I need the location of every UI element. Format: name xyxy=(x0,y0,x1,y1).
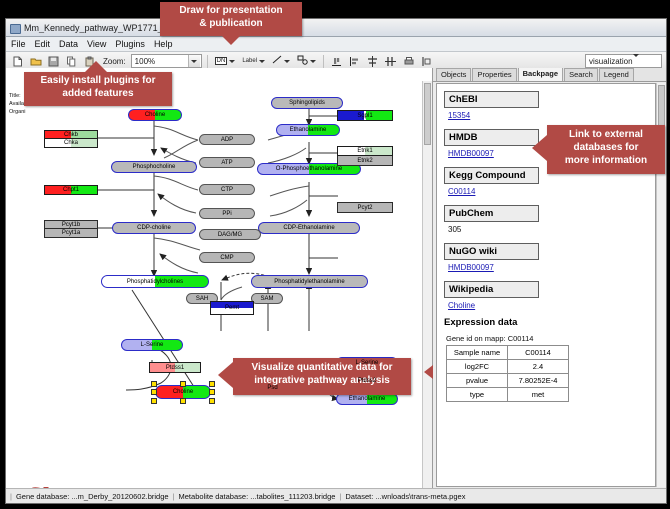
node-label: DAG/MG xyxy=(218,232,242,238)
datanode-tool[interactable]: DN xyxy=(213,55,238,68)
node-sphingolipids[interactable]: Sphingolipids xyxy=(271,97,343,109)
section-heading-kegg-compound: Kegg Compound xyxy=(444,167,539,184)
callout-draw-arrow xyxy=(220,34,242,45)
table-row: log2FC 2.4 xyxy=(447,360,569,374)
pathway-canvas[interactable]: Title: Availa Organi xyxy=(6,68,433,489)
node-label: Chkb xyxy=(64,132,78,138)
node-choline-selected[interactable]: Choline xyxy=(155,385,211,399)
callout-links-arrow-lower xyxy=(424,365,433,379)
node-label: Phosphocholine xyxy=(133,164,176,170)
node-ppi[interactable]: PPi xyxy=(199,208,255,219)
node-label: L-Serine xyxy=(356,360,379,366)
selection-handle[interactable] xyxy=(180,381,186,387)
node-label: Ptdss1 xyxy=(166,365,184,371)
distribute-horizontal-icon[interactable] xyxy=(383,54,398,69)
callout-plugins-line2: added features xyxy=(24,87,172,100)
tab-objects[interactable]: Objects xyxy=(436,68,471,81)
section-heading-wikipedia: Wikipedia xyxy=(444,281,539,298)
shape-tool[interactable] xyxy=(295,55,318,68)
link-kegg-compound[interactable]: C00114 xyxy=(448,187,655,196)
node-phosphatidylcholines[interactable]: Phosphatidylcholines xyxy=(101,275,209,288)
gene-etnk1[interactable]: Etnk1 xyxy=(337,146,393,156)
table-row: type met xyxy=(447,388,569,402)
callout-visualize-line1: Visualize quantitative data for xyxy=(233,361,411,374)
align-top-icon[interactable] xyxy=(329,54,344,69)
expression-data-heading: Expression data xyxy=(444,317,655,328)
selection-handle[interactable] xyxy=(180,398,186,404)
cell-key: log2FC xyxy=(447,360,508,374)
node-label: Chpt1 xyxy=(63,187,79,193)
node-label: Ethanolamine xyxy=(349,396,386,402)
node-label: SAH xyxy=(196,296,208,302)
tab-properties[interactable]: Properties xyxy=(472,68,516,81)
menu-item-file[interactable]: File xyxy=(11,39,26,49)
save-icon[interactable] xyxy=(46,54,61,69)
node-label: Phosphatidylcholines xyxy=(127,279,183,285)
node-label: Choline xyxy=(145,112,165,118)
cell-key: pvalue xyxy=(447,374,508,388)
selection-handle[interactable] xyxy=(151,389,157,395)
node-ctp[interactable]: CTP xyxy=(199,184,255,195)
selection-handle[interactable] xyxy=(151,381,157,387)
node-atp[interactable]: ATP xyxy=(199,157,255,168)
node-label: CTP xyxy=(221,187,233,193)
node-label: Etnk2 xyxy=(357,158,372,164)
callout-visualize: Visualize quantitative data for integrat… xyxy=(233,358,411,395)
node-label: SAM xyxy=(260,296,273,302)
gene-etnk2[interactable]: Etnk2 xyxy=(337,156,393,166)
node-label: CDP-Ethanolamine xyxy=(283,225,334,231)
gene-chka[interactable]: Chka xyxy=(44,139,98,148)
node-label: Sphingolipids xyxy=(289,100,325,106)
new-file-icon[interactable] xyxy=(10,54,25,69)
cell-value: C00114 xyxy=(508,346,569,360)
visualization-combobox[interactable]: visualization xyxy=(585,54,662,68)
menu-item-data[interactable]: Data xyxy=(59,39,78,49)
gene-ptdss1[interactable]: Ptdss1 xyxy=(149,362,201,373)
group-icon[interactable] xyxy=(419,54,434,69)
status-separator: | xyxy=(10,492,12,501)
menu-item-edit[interactable]: Edit xyxy=(35,39,51,49)
cell-key: Sample name xyxy=(447,346,508,360)
selection-handle[interactable] xyxy=(209,381,215,387)
node-label: PPi xyxy=(222,211,231,217)
shape-icon xyxy=(297,55,308,67)
node-label: Ptdss2 xyxy=(358,378,376,384)
status-separator: | xyxy=(173,492,175,501)
menu-item-plugins[interactable]: Plugins xyxy=(115,39,145,49)
callout-visualize-arrow xyxy=(218,362,233,388)
node-label: Phosphatidylethanolamine xyxy=(274,279,344,285)
node-label: L-Serine xyxy=(141,342,164,348)
table-row: Sample name C00114 xyxy=(447,346,569,360)
datanode-icon: DN xyxy=(215,57,228,65)
status-metabolite-database: Metabolite database: ...tabolites_111203… xyxy=(179,492,336,501)
gene-chkb[interactable]: Chkb xyxy=(44,130,98,139)
cell-value: met xyxy=(508,388,569,402)
node-label: Choline xyxy=(173,389,193,395)
callout-draw-line1: Draw for presentation xyxy=(160,4,302,17)
status-dataset: Dataset: ...wnloads\trans-meta.pgex xyxy=(345,492,465,501)
section-heading-pubchem: PubChem xyxy=(444,205,539,222)
app-icon xyxy=(10,23,20,33)
selection-handle[interactable] xyxy=(151,398,157,404)
pathway-diagram: Title: Availa Organi xyxy=(6,68,432,489)
section-heading-hmdb: HMDB xyxy=(444,129,539,146)
table-row: pvalue 7.80252E-4 xyxy=(447,374,569,388)
link-nugo-wiki[interactable]: HMDB00097 xyxy=(448,263,655,272)
callout-draw: Draw for presentation & publication xyxy=(160,2,302,36)
node-dagmg[interactable]: DAG/MG xyxy=(199,229,261,240)
callout-plugins-arrow xyxy=(85,61,107,72)
node-ethanolamine[interactable]: Ethanolamine xyxy=(276,124,340,136)
align-left-icon[interactable] xyxy=(347,54,362,69)
side-panel-tabs: Objects Properties Backpage Search Legen… xyxy=(433,68,666,82)
line-icon xyxy=(272,55,282,67)
status-bar: | Gene database: ...m_Derby_20120602.bri… xyxy=(6,488,666,503)
node-phosphocholine[interactable]: Phosphocholine xyxy=(111,161,197,173)
node-label: Pemt xyxy=(225,305,239,311)
toolbar-separator xyxy=(323,55,324,68)
toolbar-separator xyxy=(207,55,208,68)
callout-plugins-line1: Easily install plugins for xyxy=(24,74,172,87)
node-label: Psd xyxy=(267,385,277,391)
selection-handle[interactable] xyxy=(209,398,215,404)
node-label: ATP xyxy=(221,160,232,166)
print-icon[interactable] xyxy=(401,54,416,69)
callout-links: Link to external databases for more info… xyxy=(547,125,665,174)
callout-links-line1: Link to external xyxy=(547,128,665,141)
tab-search[interactable]: Search xyxy=(564,68,598,81)
section-heading-nugo-wiki: NuGO wiki xyxy=(444,243,539,260)
tab-backpage[interactable]: Backpage xyxy=(518,68,563,81)
title-bar: Mm_Kennedy_pathway_WP1771_45176.gpml xyxy=(6,19,666,37)
callout-draw-line2: & publication xyxy=(160,17,302,30)
node-label: CMP xyxy=(220,255,233,261)
zoom-value: 100% xyxy=(135,57,155,66)
gene-id-line: Gene id on mapp: C00114 xyxy=(446,334,655,343)
node-cmp[interactable]: CMP xyxy=(199,252,255,263)
node-phosphatidylethanolamine[interactable]: Phosphatidylethanolamine xyxy=(251,275,368,288)
link-chebi[interactable]: 15354 xyxy=(448,111,655,120)
canvas-vertical-scrollbar[interactable] xyxy=(422,81,432,489)
open-folder-icon[interactable] xyxy=(28,54,43,69)
status-gene-database: Gene database: ...m_Derby_20120602.bridg… xyxy=(16,492,169,501)
gene-chpt1[interactable]: Chpt1 xyxy=(44,185,98,195)
callout-visualize-line2: integrative pathway analysis xyxy=(233,374,411,387)
node-label: Pcyt1a xyxy=(62,230,80,236)
distribute-vertical-icon[interactable] xyxy=(365,54,380,69)
menu-bar: File Edit Data View Plugins Help xyxy=(6,37,666,52)
gene-pcyt1b[interactable]: Pcyt1b xyxy=(44,220,98,229)
status-separator: | xyxy=(339,492,341,501)
line-tool[interactable] xyxy=(270,55,292,68)
node-label: Ethanolamine xyxy=(290,127,327,133)
gene-pemt[interactable]: Pemt xyxy=(210,301,254,315)
node-label: Pcyt1b xyxy=(62,222,80,228)
node-label: ADP xyxy=(221,137,233,143)
tab-legend[interactable]: Legend xyxy=(599,68,634,81)
node-label: Chka xyxy=(64,140,78,146)
link-wikipedia[interactable]: Choline xyxy=(448,301,655,310)
value-pubchem: 305 xyxy=(448,225,655,234)
node-label: Sgpl1 xyxy=(357,113,372,119)
chevron-down-icon[interactable] xyxy=(188,55,200,67)
gene-pcyt1a[interactable]: Pcyt1a xyxy=(44,229,98,238)
node-sam[interactable]: SAM xyxy=(251,293,283,304)
label-tool[interactable]: Label xyxy=(240,55,267,68)
node-cdp-ethanolamine[interactable]: CDP-Ethanolamine xyxy=(258,222,360,234)
node-choline-top[interactable]: Choline xyxy=(128,109,182,121)
scrollbar-thumb[interactable] xyxy=(658,85,665,129)
chevron-down-icon[interactable] xyxy=(633,57,639,66)
scrollbar-thumb[interactable] xyxy=(424,83,431,145)
gene-sgpl1[interactable]: Sgpl1 xyxy=(337,110,393,121)
node-label: O-Phosphoethanolamine xyxy=(276,166,342,172)
copy-icon[interactable] xyxy=(64,54,79,69)
node-l-serine-left[interactable]: L-Serine xyxy=(121,339,183,351)
menu-item-view[interactable]: View xyxy=(87,39,106,49)
gene-pcyt2[interactable]: Pcyt2 xyxy=(337,202,393,213)
menu-item-help[interactable]: Help xyxy=(154,39,173,49)
node-label: Pcyt2 xyxy=(357,205,372,211)
callout-links-line2: databases for xyxy=(547,141,665,154)
callout-links-line3: more information xyxy=(547,154,665,167)
node-label: CDP-choline xyxy=(137,225,171,231)
callout-plugins: Easily install plugins for added feature… xyxy=(24,72,172,106)
section-heading-chebi: ChEBI xyxy=(444,91,539,108)
cell-key: type xyxy=(447,388,508,402)
node-label: Etnk1 xyxy=(357,148,372,154)
cell-value: 2.4 xyxy=(508,360,569,374)
callout-links-arrow xyxy=(532,135,547,161)
label-tool-text: Label xyxy=(242,58,257,64)
node-cdp-choline[interactable]: CDP-choline xyxy=(112,222,196,234)
cell-value: 7.80252E-4 xyxy=(508,374,569,388)
node-adp[interactable]: ADP xyxy=(199,134,255,145)
selection-handle[interactable] xyxy=(209,389,215,395)
visualization-value: visualization xyxy=(589,57,633,66)
expression-data-table: Sample name C00114 log2FC 2.4 pvalue 7.8… xyxy=(446,345,569,402)
zoom-combobox[interactable]: 100% xyxy=(131,54,202,68)
screenshot-root: Mm_Kennedy_pathway_WP1771_45176.gpml Fil… xyxy=(0,0,670,509)
